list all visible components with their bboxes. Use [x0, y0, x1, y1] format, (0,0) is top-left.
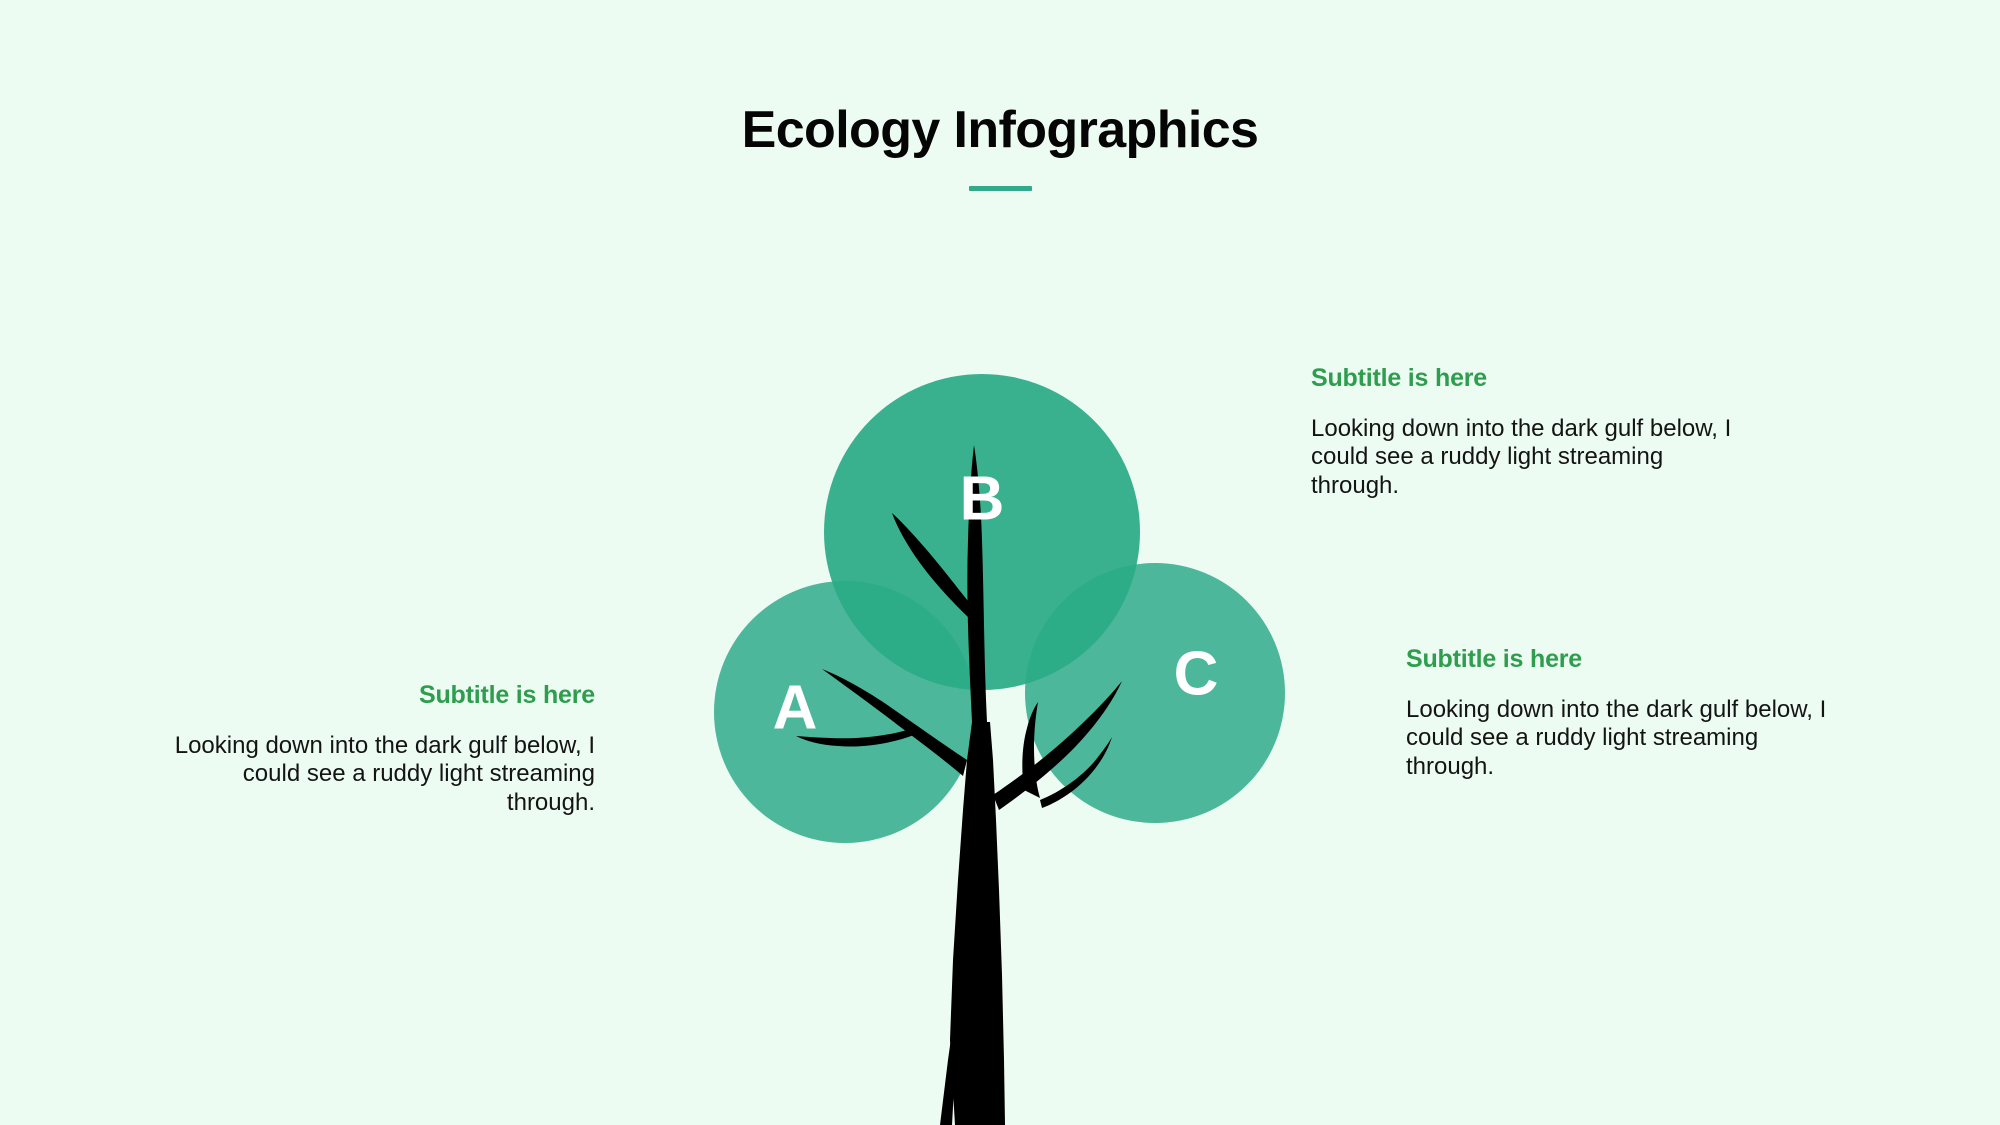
info-body-left: Looking down into the dark gulf below, I… [155, 732, 595, 818]
trunk [950, 722, 1005, 1125]
info-block-left: Subtitle is here Looking down into the d… [155, 682, 595, 817]
info-body-bottom-right: Looking down into the dark gulf below, I… [1406, 696, 1836, 782]
infographic-slide: Ecology Infographics [0, 0, 2000, 1125]
foliage-group [714, 374, 1285, 843]
foliage-label-b: B [960, 464, 1005, 533]
info-block-bottom-right: Subtitle is here Looking down into the d… [1406, 646, 1836, 781]
info-body-top-right: Looking down into the dark gulf below, I… [1311, 415, 1741, 501]
info-block-top-right: Subtitle is here Looking down into the d… [1311, 365, 1741, 500]
foliage-label-c: C [1174, 639, 1219, 708]
tree-illustration: A B C [0, 0, 2000, 1125]
info-subtitle-top-right: Subtitle is here [1311, 365, 1741, 393]
info-subtitle-left: Subtitle is here [155, 682, 595, 710]
info-subtitle-bottom-right: Subtitle is here [1406, 646, 1836, 674]
foliage-label-a: A [773, 673, 818, 742]
